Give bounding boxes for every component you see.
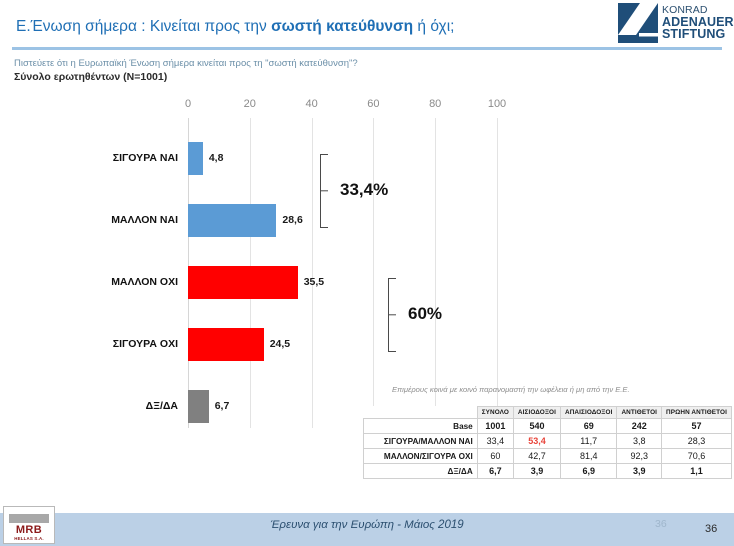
gridline-60 — [373, 118, 374, 428]
x-axis-tick-100: 100 — [488, 98, 506, 110]
crosstab-table: ΣΥΝΟΛΟΑΙΣΙΟΔΟΞΟΙΑΠΑΙΣΙΟΔΟΞΟΙΑΝΤΙΘΕΤΟΙΠΡΩ… — [363, 406, 732, 479]
bar-value-4: 6,7 — [215, 400, 230, 412]
table-row-label-2: ΜΑΛΛΟΝ/ΣΙΓΟΥΡΑ ΟΧΙ — [364, 449, 478, 464]
bracket-tip-top — [388, 278, 396, 279]
bar-chart: 020406080100ΣΙΓΟΥΡΑ ΝΑΙ4,8ΜΑΛΛΟΝ ΝΑΙ28,6… — [0, 92, 734, 452]
kas-logo-wordmark: KONRAD ADENAUER STIFTUNG — [662, 5, 734, 41]
page-title: Ε.Ένωση σήμερα : Κινείται προς την σωστή… — [16, 18, 454, 36]
table-cell-r3-c3: 3,9 — [617, 464, 662, 479]
mrb-logo-subtitle: HELLAS S.A. — [14, 536, 44, 541]
subtitle-base: Σύνολο ερωτηθέντων (N=1001) — [14, 71, 167, 83]
table-body: Base10015406924257ΣΙΓΟΥΡΑ/ΜΑΛΛΟΝ ΝΑΙ33,4… — [364, 419, 732, 479]
category-label-3: ΣΙΓΟΥΡΑ ΟΧΙ — [8, 338, 178, 350]
bracket-tip-bottom — [320, 227, 328, 228]
bracket-label-0: 33,4% — [340, 180, 388, 200]
table-cell-r3-c2: 6,9 — [560, 464, 616, 479]
table-col-header-0 — [364, 407, 478, 419]
bracket-tip-top — [320, 154, 328, 155]
kas-line-konrad: KONRAD — [662, 5, 734, 16]
bar-value-1: 28,6 — [282, 214, 302, 226]
category-label-4: ΔΞ/ΔΑ — [8, 400, 178, 412]
bar-1 — [188, 204, 276, 237]
bar-0 — [188, 142, 203, 175]
table-cell-r1-c0: 33,4 — [477, 434, 513, 449]
kas-a-glyph-icon — [618, 3, 658, 43]
page-number: 36 — [705, 523, 717, 535]
bar-value-3: 24,5 — [270, 338, 290, 350]
category-label-0: ΣΙΓΟΥΡΑ ΝΑΙ — [8, 152, 178, 164]
title-divider — [12, 47, 722, 50]
table-head: ΣΥΝΟΛΟΑΙΣΙΟΔΟΞΟΙΑΠΑΙΣΙΟΔΟΞΟΙΑΝΤΙΘΕΤΟΙΠΡΩ… — [364, 407, 732, 419]
table-cell-r0-c0: 1001 — [477, 419, 513, 434]
gridline-40 — [312, 118, 313, 428]
bracket-mid-tick — [320, 190, 328, 191]
table-cell-r2-c3: 92,3 — [617, 449, 662, 464]
table-cell-r1-c2: 11,7 — [560, 434, 616, 449]
table-cell-r3-c0: 6,7 — [477, 464, 513, 479]
bracket-mid-tick — [388, 314, 396, 315]
bar-value-2: 35,5 — [304, 276, 324, 288]
bar-2 — [188, 266, 298, 299]
table-cell-r1-c4: 28,3 — [662, 434, 732, 449]
table-cell-r0-c2: 69 — [560, 419, 616, 434]
table-cell-r2-c0: 60 — [477, 449, 513, 464]
table-header-row: ΣΥΝΟΛΟΑΙΣΙΟΔΟΞΟΙΑΠΑΙΣΙΟΔΟΞΟΙΑΝΤΙΘΕΤΟΙΠΡΩ… — [364, 407, 732, 419]
table-cell-r0-c4: 57 — [662, 419, 732, 434]
table-row-label-0: Base — [364, 419, 478, 434]
kas-logo-mark-icon — [618, 3, 658, 43]
table-cell-r3-c4: 1,1 — [662, 464, 732, 479]
x-axis-tick-0: 0 — [185, 98, 191, 110]
table-cell-r1-c3: 3,8 — [617, 434, 662, 449]
table-footnote: Επιμέρους κοινά με κοινό παρανομαστή την… — [392, 385, 630, 394]
page-number-faint: 36 — [655, 518, 667, 530]
table-cell-r2-c1: 42,7 — [513, 449, 560, 464]
footer-caption: Έρευνα για την Ευρώπη - Μάιος 2019 — [0, 519, 734, 531]
slide-root: KONRAD ADENAUER STIFTUNG Ε.Ένωση σήμερα … — [0, 0, 734, 546]
title-emphasis: σωστή κατεύθυνση — [271, 18, 413, 35]
x-axis-tick-20: 20 — [244, 98, 256, 110]
table-col-header-2: ΑΙΣΙΟΔΟΞΟΙ — [513, 407, 560, 419]
kas-line-stiftung: STIFTUNG — [662, 28, 734, 41]
table-cell-r0-c3: 242 — [617, 419, 662, 434]
category-label-1: ΜΑΛΛΟΝ ΝΑΙ — [8, 214, 178, 226]
table-cell-r0-c1: 540 — [513, 419, 560, 434]
table-row: Base10015406924257 — [364, 419, 732, 434]
title-part-1: Ε.Ένωση σήμερα : Κινείται προς την — [16, 18, 271, 35]
table-cell-r2-c4: 70,6 — [662, 449, 732, 464]
subtitle-question: Πιστεύετε ότι η Ευρωπαϊκή Ένωση σήμερα κ… — [14, 58, 358, 69]
table-cell-r1-c1: 53,4 — [513, 434, 560, 449]
table-cell-r2-c2: 81,4 — [560, 449, 616, 464]
table-col-header-1: ΣΥΝΟΛΟ — [477, 407, 513, 419]
category-label-2: ΜΑΛΛΟΝ ΟΧΙ — [8, 276, 178, 288]
gridline-80 — [435, 118, 436, 428]
table-row-label-3: ΔΞ/ΔΑ — [364, 464, 478, 479]
bar-3 — [188, 328, 264, 361]
x-axis-tick-60: 60 — [367, 98, 379, 110]
bar-value-0: 4,8 — [209, 152, 224, 164]
table-col-header-3: ΑΠΑΙΣΙΟΔΟΞΟΙ — [560, 407, 616, 419]
table-col-header-5: ΠΡΩΗΝ ΑΝΤΙΘΕΤΟΙ — [662, 407, 732, 419]
table-row: ΔΞ/ΔΑ6,73,96,93,91,1 — [364, 464, 732, 479]
konrad-adenauer-stiftung-logo: KONRAD ADENAUER STIFTUNG — [618, 2, 730, 44]
bar-4 — [188, 390, 209, 423]
x-axis-tick-40: 40 — [305, 98, 317, 110]
table-row-label-1: ΣΙΓΟΥΡΑ/ΜΑΛΛΟΝ ΝΑΙ — [364, 434, 478, 449]
table-cell-r3-c1: 3,9 — [513, 464, 560, 479]
gridline-100 — [497, 118, 498, 428]
table-row: ΣΙΓΟΥΡΑ/ΜΑΛΛΟΝ ΝΑΙ33,453,411,73,828,3 — [364, 434, 732, 449]
x-axis-tick-80: 80 — [429, 98, 441, 110]
bracket-label-1: 60% — [408, 304, 442, 324]
bracket-tip-bottom — [388, 351, 396, 352]
title-part-2: ή όχι; — [413, 18, 454, 35]
table-row: ΜΑΛΛΟΝ/ΣΙΓΟΥΡΑ ΟΧΙ6042,781,492,370,6 — [364, 449, 732, 464]
table-col-header-4: ΑΝΤΙΘΕΤΟΙ — [617, 407, 662, 419]
